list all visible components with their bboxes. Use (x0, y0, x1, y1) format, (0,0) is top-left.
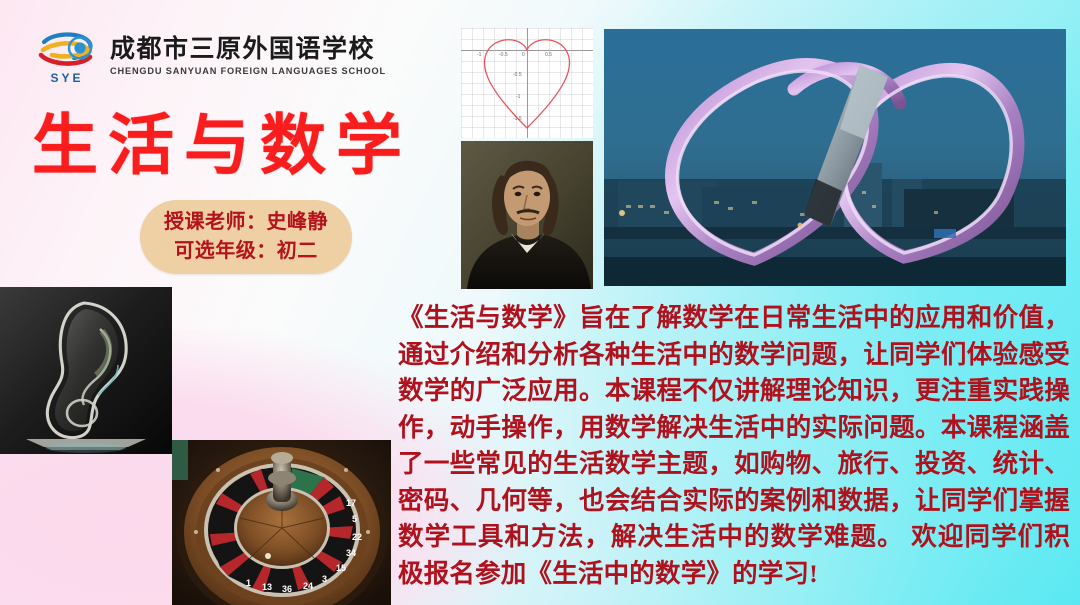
school-name-block: 成都市三原外国语学校 CHENGDU SANYUAN FOREIGN LANGU… (110, 36, 386, 75)
descartes-portrait (461, 141, 593, 289)
roulette-number-8: 5 (352, 514, 357, 524)
course-info-badge: 授课老师：史峰静 可选年级：初二 (140, 200, 352, 274)
sculpture-illustration (604, 29, 1066, 286)
heart-curve-path (461, 28, 593, 138)
orbit-swirl-icon: SYE (34, 28, 100, 84)
glass-klein-bottle-sculpture (0, 287, 172, 454)
roulette-number-4: 3 (322, 574, 327, 584)
klein-bottle-illustration (0, 287, 172, 454)
page-title: 生活与数学 (32, 92, 412, 188)
portrait-illustration (461, 141, 593, 289)
school-name-en: CHENGDU SANYUAN FOREIGN LANGUAGES SCHOOL (110, 66, 386, 76)
teacher-label: 授课老师：史峰静 (164, 209, 328, 236)
graph-xtick-3: 0.5 (545, 52, 552, 58)
graph-ytick-0: -0.5 (513, 72, 522, 78)
roulette-illustration: 1 13 36 24 3 15 34 22 5 17 (172, 440, 391, 605)
roulette-number-1: 13 (262, 582, 272, 592)
roulette-number-2: 36 (282, 584, 292, 594)
roulette-number-7: 22 (352, 532, 362, 542)
roulette-number-5: 15 (336, 563, 346, 573)
graph-xtick-0: -1 (477, 52, 481, 58)
graph-xtick-1: -0.5 (499, 52, 508, 58)
heart-curve-graph: -1 -0.5 0 0.5 -0.5 -1 -1.5 (461, 28, 593, 138)
slide-canvas: SYE 成都市三原外国语学校 CHENGDU SANYUAN FOREIGN L… (0, 0, 1080, 605)
graph-xtick-2: 0 (522, 52, 525, 58)
purple-mobius-sculpture-photo (604, 29, 1066, 286)
roulette-number-9: 17 (346, 498, 356, 508)
logo-initials: SYE (40, 71, 94, 85)
course-description: 《生活与数学》旨在了解数学在日常生活中的应用和价值，通过介绍和分析各种生活中的数… (398, 300, 1070, 592)
graph-ytick-1: -1 (516, 94, 520, 100)
roulette-number-6: 34 (346, 548, 356, 558)
school-name-cn: 成都市三原外国语学校 (110, 36, 386, 62)
graph-ytick-2: -1.5 (513, 116, 522, 122)
school-logo: SYE 成都市三原外国语学校 CHENGDU SANYUAN FOREIGN L… (34, 28, 364, 84)
roulette-number-0: 1 (246, 578, 251, 588)
roulette-wheel-photo: 1 13 36 24 3 15 34 22 5 17 (172, 440, 391, 605)
grade-label: 可选年级：初二 (174, 238, 318, 265)
roulette-number-3: 24 (303, 581, 313, 591)
